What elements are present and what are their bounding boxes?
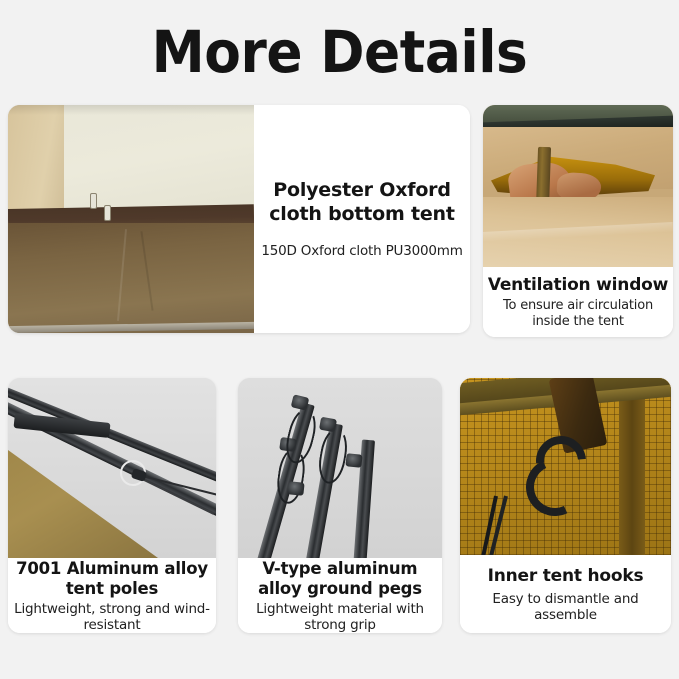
feature-caption-tent-poles: 7001 Aluminum alloy tent poles Lightweig…: [8, 558, 216, 633]
ground-pegs-photo: [238, 378, 442, 558]
tent-clip-icon: [90, 193, 97, 209]
feature-card-ground-pegs[interactable]: V-type aluminum alloy ground pegs Lightw…: [238, 378, 442, 633]
tent-interior-illustration: [8, 105, 254, 333]
feature-subtitle: Lightweight, strong and wind-resistant: [14, 601, 210, 633]
peg-cord-loop: [274, 446, 308, 505]
peg-head: [287, 481, 304, 496]
product-detail-page: More Details Polyester Oxford cloth bott…: [0, 0, 679, 679]
feature-card-bottom-tent[interactable]: Polyester Oxford cloth bottom tent 150D …: [8, 105, 470, 333]
aluminum-tent-pole-photo: [8, 378, 216, 558]
feature-title: V-type aluminum alloy ground pegs: [244, 559, 436, 599]
feature-caption-bottom-tent: Polyester Oxford cloth bottom tent 150D …: [254, 105, 470, 333]
tent-hook: [522, 436, 584, 508]
feature-title: Inner tent hooks: [488, 565, 644, 587]
tent-seam: [619, 378, 645, 555]
feature-caption-ventilation: Ventilation window To ensure air circula…: [483, 267, 673, 337]
feature-subtitle: Lightweight material with strong grip: [244, 601, 436, 633]
feature-title: Polyester Oxford cloth bottom tent: [260, 178, 464, 226]
page-title: More Details: [27, 14, 652, 90]
feature-card-inner-tent-hooks[interactable]: Inner tent hooks Easy to dismantle and a…: [460, 378, 671, 633]
inner-tent-hook-photo: [460, 378, 671, 555]
tent-pole-upper: [8, 384, 216, 486]
ventilation-illustration: [483, 105, 673, 267]
peg-head: [345, 453, 362, 468]
feature-subtitle: 150D Oxford cloth PU3000mm: [261, 242, 462, 260]
tent-bottom-floor-photo: [8, 105, 254, 333]
feature-card-ventilation[interactable]: Ventilation window To ensure air circula…: [483, 105, 673, 337]
photo-top-shadow: [8, 105, 254, 115]
feature-title: 7001 Aluminum alloy tent poles: [14, 559, 210, 599]
tent-floor: [8, 223, 254, 333]
inner-hook-illustration: [460, 378, 671, 555]
ventilation-window-photo: [483, 105, 673, 267]
feature-caption-inner-tent-hooks: Inner tent hooks Easy to dismantle and a…: [460, 555, 671, 633]
tent-clip-icon: [104, 205, 111, 221]
guy-line: [138, 476, 214, 515]
feature-subtitle: To ensure air circulation inside the ten…: [487, 298, 669, 330]
feature-subtitle: Easy to dismantle and assemble: [466, 591, 665, 623]
tent-pole-illustration: [8, 378, 216, 558]
feature-title: Ventilation window: [488, 274, 668, 296]
feature-caption-ground-pegs: V-type aluminum alloy ground pegs Lightw…: [238, 558, 442, 633]
ground-pegs-illustration: [238, 378, 442, 558]
feature-card-tent-poles[interactable]: 7001 Aluminum alloy tent poles Lightweig…: [8, 378, 216, 633]
